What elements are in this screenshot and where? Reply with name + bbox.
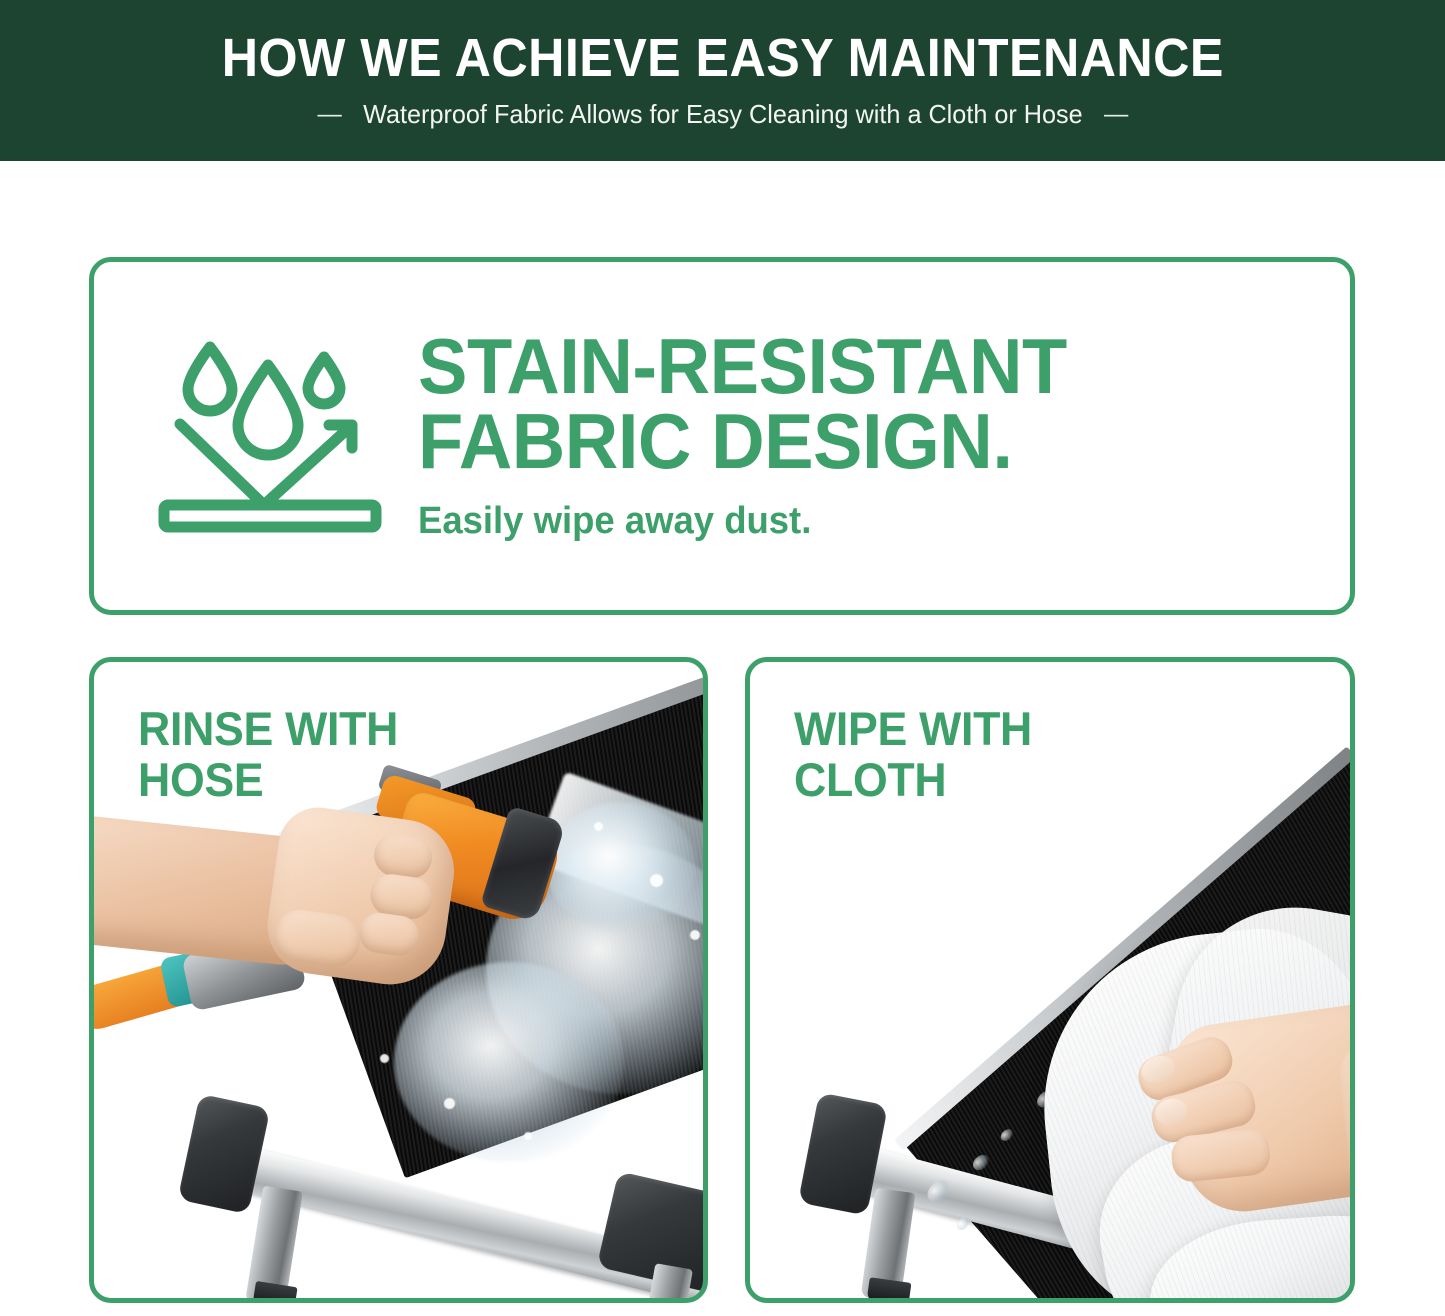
wipe-panel-title: WIPE WITH CLOTH (794, 704, 1032, 806)
feature-subheading: Easily wipe away dust. (418, 500, 1074, 543)
hand-gripping-nozzle (261, 802, 460, 991)
dash-right-icon: — (1104, 102, 1128, 127)
rinse-title-line1: RINSE WITH (138, 704, 398, 755)
water-splash-secondary (394, 962, 624, 1162)
page-title: HOW WE ACHIEVE EASY MAINTENANCE (221, 31, 1223, 86)
cot-leg-cap-left (867, 1277, 912, 1298)
hand-holding-cloth (1166, 999, 1350, 1219)
knuckle (371, 832, 434, 882)
feature-heading-line1: STAIN-RESISTANT (418, 329, 1067, 404)
cot-leg-left (245, 1186, 303, 1298)
stain-resistant-feature-card: STAIN-RESISTANT FABRIC DESIGN. Easily wi… (89, 257, 1355, 615)
dash-left-icon: — (317, 102, 341, 127)
wipe-title-line1: WIPE WITH (794, 704, 1032, 755)
finger (1170, 1128, 1272, 1184)
page-header: HOW WE ACHIEVE EASY MAINTENANCE — Waterp… (0, 0, 1445, 161)
water-droplet (650, 874, 663, 887)
cot-leg-cap-left (252, 1281, 297, 1298)
water-droplet (594, 822, 603, 831)
feature-heading-line2: FABRIC DESIGN. (418, 404, 1067, 479)
rinse-with-hose-panel: RINSE WITH HOSE (89, 657, 708, 1303)
water-repellent-fabric-icon (142, 329, 404, 544)
water-droplet (380, 1054, 389, 1063)
water-droplet (690, 930, 700, 940)
water-droplet (444, 1098, 455, 1109)
rinse-panel-title: RINSE WITH HOSE (138, 704, 398, 806)
cot-corner-cap-left (178, 1094, 271, 1215)
wipe-title-line2: CLOTH (794, 755, 1032, 806)
water-splash-upper (546, 802, 696, 932)
rinse-title-line2: HOSE (138, 755, 398, 806)
water-droplet (524, 1132, 532, 1140)
page-subtitle: Waterproof Fabric Allows for Easy Cleani… (363, 99, 1083, 130)
page-subtitle-row: — Waterproof Fabric Allows for Easy Clea… (317, 99, 1128, 130)
thumb (271, 907, 363, 970)
wipe-with-cloth-panel: WIPE WITH CLOTH (745, 657, 1355, 1303)
